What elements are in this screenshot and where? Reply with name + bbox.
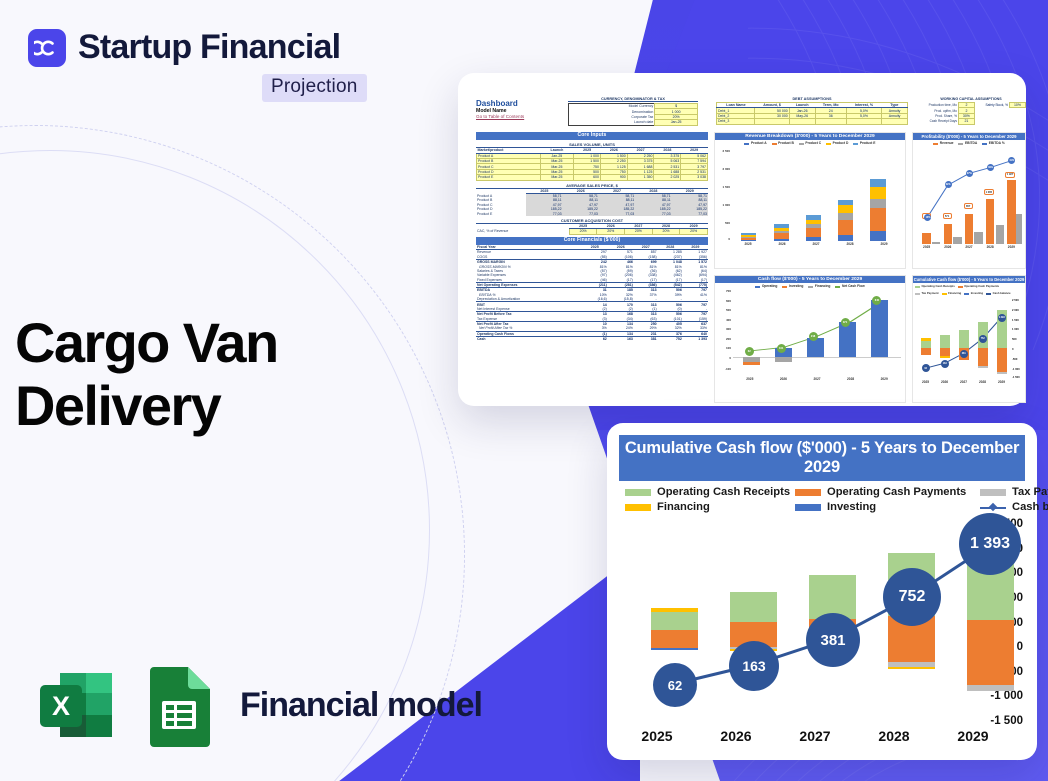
legend: Operating Cash Receipts Operating Cash P… bbox=[913, 283, 1025, 296]
core-financials-header: Core Financials ($'000) bbox=[476, 237, 708, 245]
minichart-revenue-breakdown: Revenue Breakdown ($'000) - 5 Years to D… bbox=[714, 132, 906, 269]
brand-subtitle: Projection bbox=[262, 74, 367, 102]
table-row: Product E Mar-25 600 900 1 350 2 025 3 0… bbox=[477, 175, 708, 180]
row-label: Cash bbox=[476, 336, 582, 341]
data-point-2029: 1 393 bbox=[959, 513, 1021, 575]
data-point-2027: 381 bbox=[806, 613, 860, 667]
row-value: 163 bbox=[608, 336, 634, 341]
data-point-2028: 752 bbox=[883, 568, 941, 626]
bar-group: 62 163 381 752 1 393 bbox=[637, 517, 959, 722]
legend-label: Cash balance bbox=[1012, 501, 1048, 513]
legend-item-operating-cash-receipts: Operating Cash Receipts bbox=[625, 486, 795, 498]
x-axis-labels: 2025 2026 2027 2028 2029 bbox=[916, 380, 1011, 384]
currency-block-header: CURRENCY, DENOMINATOR & TAX bbox=[568, 97, 698, 102]
x-axis-labels: 2025 2026 2027 2028 2029 bbox=[619, 724, 965, 746]
debt-block-header: DEBT ASSUMPTIONS bbox=[716, 97, 908, 101]
dashboard-preview-card[interactable]: Dashboard Model Name Go to Table of Cont… bbox=[458, 73, 1026, 406]
sales-volume-table: Market/product Launch 2025 2026 2027 202… bbox=[476, 148, 708, 180]
core-financials-table: Fiscal Year 2025 2026 2027 2028 2029 Rev… bbox=[476, 245, 708, 342]
row-label: Launch date bbox=[569, 120, 655, 125]
financial-model-label: Financial model bbox=[240, 686, 482, 725]
table-row: Debt_3 bbox=[717, 119, 908, 124]
brand-badge bbox=[28, 29, 66, 67]
legend-swatch bbox=[980, 489, 1006, 496]
plot-area: 2 500 2 000 1 500 1 000 500 0 bbox=[731, 146, 901, 241]
minichart-cash-flow: Cash flow ($'000) - 5 Years to December … bbox=[714, 275, 906, 403]
core-inputs-header: Core Inputs bbox=[476, 132, 708, 140]
brand-name: Startup Financial bbox=[78, 28, 340, 67]
table-row: CAC, % of Revenue 20% 20% 20% 20% 20% bbox=[476, 229, 708, 234]
debt-block-table: Loan Name Amount, $ Launch Term, Mo Inte… bbox=[716, 102, 908, 125]
cac-table: 2025 2026 2027 2028 2029 CAC, % of Reven… bbox=[476, 224, 708, 235]
plot-area: 700 600 500 400 300 200 100 0 -100 bbox=[733, 289, 901, 375]
google-sheets-icon bbox=[144, 663, 214, 747]
legend-swatch-line bbox=[980, 504, 1006, 511]
x-tick: 2028 bbox=[878, 728, 909, 744]
minichart-profitability: Profitability ($'000) - 5 Years to Decem… bbox=[912, 132, 1026, 269]
svg-text:X: X bbox=[52, 691, 70, 721]
chart-legend: Operating Cash Receipts Operating Cash P… bbox=[619, 481, 1025, 513]
dashboard-sheet: Dashboard Model Name Go to Table of Cont… bbox=[468, 81, 1016, 398]
plot-area: 2 500 2 000 1 500 1 000 500 0 -500 -1 00… bbox=[916, 296, 1011, 378]
x-tick: 2026 bbox=[720, 728, 751, 744]
legend-swatch bbox=[795, 504, 821, 511]
currency-block-table: Model Currency $ Denomination 1 000 Corp… bbox=[568, 103, 698, 126]
legend-swatch bbox=[625, 504, 651, 511]
legend-item-investing: Investing bbox=[795, 501, 980, 513]
format-logos: X Financial model bbox=[34, 663, 482, 747]
table-row: Product E 77,03 77,03 77,03 77,03 77,03 bbox=[476, 211, 708, 215]
legend-item-cash-balance: Cash balance bbox=[980, 501, 1048, 513]
x-tick: 2029 bbox=[957, 728, 988, 744]
legend-item-operating-cash-payments: Operating Cash Payments bbox=[795, 486, 980, 498]
microsoft-excel-icon: X bbox=[34, 663, 118, 747]
page-title: Cargo Van Delivery bbox=[15, 312, 278, 437]
row-value: 1 393 bbox=[683, 336, 708, 341]
legend-label: Operating Cash Receipts bbox=[657, 486, 790, 498]
chart-plot-area: 2 500 2 000 1 500 1 000 500 0 -500 -1 00… bbox=[637, 517, 1019, 722]
row-value: Jan-25 bbox=[655, 120, 698, 125]
legend-label: Tax Payment bbox=[1012, 486, 1048, 498]
table-row: Cash621633817521 393 bbox=[476, 336, 708, 341]
row-value: 62 bbox=[582, 336, 608, 341]
x-axis-labels: 2025 2026 2027 2028 2029 bbox=[733, 377, 901, 381]
legend-label: Financing bbox=[657, 501, 710, 513]
working-capital-header: WORKING CAPITAL ASSUMPTIONS bbox=[916, 97, 1026, 101]
legend-swatch bbox=[795, 489, 821, 496]
chart-title: Cumulative Cash flow ($'000) - 5 Years t… bbox=[619, 435, 1025, 481]
plot-area: 297 571 857 1 285 1 927 10% 32% 37% 39% … bbox=[916, 146, 1022, 244]
y-tick: 0 bbox=[1017, 641, 1023, 653]
page-title-line2: Delivery bbox=[15, 375, 278, 438]
x-axis-labels: 2025 2026 2027 2028 2029 bbox=[916, 245, 1022, 249]
avg-price-table: 2025 2026 2027 2028 2029 Product A 58,71… bbox=[476, 189, 708, 216]
legend-label: Operating Cash Payments bbox=[827, 486, 966, 498]
brand-logo: Startup Financial bbox=[28, 28, 340, 67]
legend-swatch bbox=[625, 489, 651, 496]
legend-label: Investing bbox=[827, 501, 876, 513]
infinity-swirl-icon bbox=[34, 35, 60, 61]
data-point-2025: 62 bbox=[653, 663, 697, 707]
minichart-cumulative-cash-flow: Cumulative Cash flow ($'000) - 5 Years t… bbox=[912, 275, 1026, 403]
page-title-line1: Cargo Van bbox=[15, 312, 278, 375]
row-value: 752 bbox=[658, 336, 683, 341]
data-point-2026: 163 bbox=[729, 641, 779, 691]
x-tick: 2025 bbox=[641, 728, 672, 744]
x-tick: 2027 bbox=[799, 728, 830, 744]
working-capital-table: Production time, Mo 2 Safety Stock, % 10… bbox=[916, 102, 1026, 125]
cumulative-cash-flow-chart-card[interactable]: Cumulative Cash flow ($'000) - 5 Years t… bbox=[607, 423, 1037, 760]
row-value: 381 bbox=[634, 336, 658, 341]
x-axis-labels: 2025 2026 2027 2028 2029 bbox=[731, 242, 901, 246]
legend-item-financing: Financing bbox=[625, 501, 795, 513]
legend-item-tax-payment: Tax Payment bbox=[980, 486, 1048, 498]
